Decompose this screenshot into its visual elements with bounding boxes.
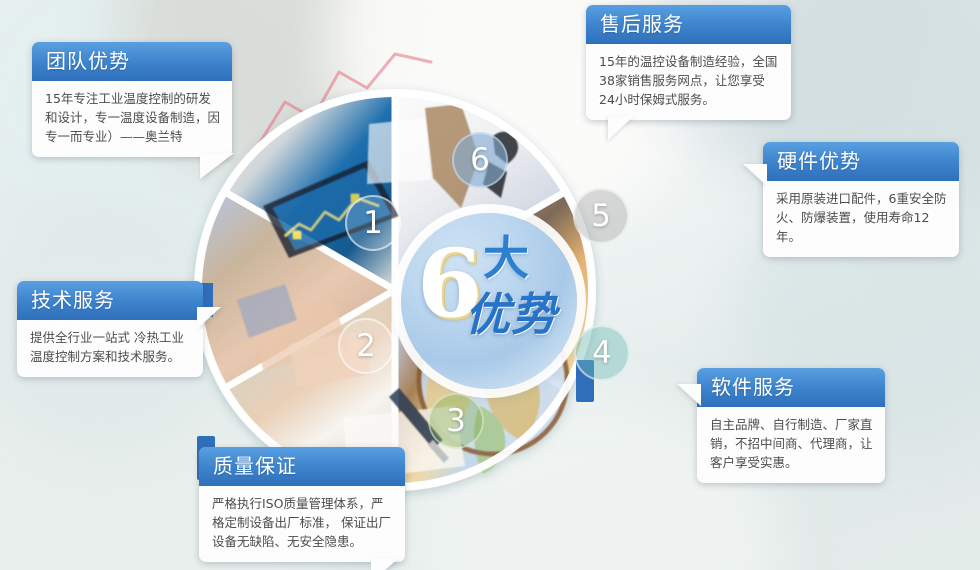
card-title-software: 软件服务 — [697, 368, 885, 407]
center-hub: 6 大 优势 — [401, 213, 577, 389]
card-title-quality: 质量保证 — [199, 447, 405, 486]
card-title-hardware: 硬件优势 — [763, 142, 959, 181]
callout-card-hardware[interactable]: 硬件优势 采用原装进口配件，6重安全防火、防爆装置，使用寿命12年。 — [763, 142, 959, 257]
card-title-after-sales: 售后服务 — [586, 5, 791, 44]
card-body-quality: 严格执行ISO质量管理体系，严格定制设备出厂标准， 保证出厂设备无缺陷、无安全隐… — [199, 486, 405, 562]
card-body-team: 15年专注工业温度控制的研发和设计，专一温度设备制造，因专一而专业）——奥兰特 — [32, 81, 232, 157]
card-body-technical: 提供全行业一站式 冷热工业温度控制方案和技术服务。 — [17, 320, 203, 377]
segment-number-6[interactable]: 6 — [452, 132, 508, 188]
callout-card-quality[interactable]: 质量保证 严格执行ISO质量管理体系，严格定制设备出厂标准， 保证出厂设备无缺陷… — [199, 447, 405, 562]
infographic-canvas: 1 2 3 4 5 6 6 大 优势 团队优势 15年专注工业温度控制的研发和设… — [0, 0, 980, 570]
segment-number-3[interactable]: 3 — [428, 393, 484, 449]
card-body-after-sales: 15年的温控设备制造经验，全国38家销售服务网点，让您享受24小时保姆式服务。 — [586, 44, 791, 120]
center-label: 优势 — [465, 291, 557, 339]
card-tail — [200, 153, 234, 179]
card-body-hardware: 采用原装进口配件，6重安全防火、防爆装置，使用寿命12年。 — [763, 181, 959, 257]
segment-number-4[interactable]: 4 — [574, 325, 630, 381]
card-title-team: 团队优势 — [32, 42, 232, 81]
center-number-suffix: 大 — [483, 235, 529, 281]
card-tail — [608, 116, 634, 140]
card-tail — [197, 307, 221, 329]
card-body-software: 自主品牌、自行制造、厂家直销，不招中间商、代理商，让客户享受实惠。 — [697, 407, 885, 483]
card-tail — [371, 558, 399, 570]
segment-number-2[interactable]: 2 — [338, 318, 394, 374]
callout-card-after-sales[interactable]: 售后服务 15年的温控设备制造经验，全国38家销售服务网点，让您享受24小时保姆… — [586, 5, 791, 120]
callout-card-software[interactable]: 软件服务 自主品牌、自行制造、厂家直销，不招中间商、代理商，让客户享受实惠。 — [697, 368, 885, 483]
card-tail — [743, 164, 767, 186]
callout-card-technical[interactable]: 技术服务 提供全行业一站式 冷热工业温度控制方案和技术服务。 — [17, 281, 203, 377]
center-hub-inner: 6 大 优势 — [401, 213, 577, 389]
segment-number-5[interactable]: 5 — [573, 188, 629, 244]
segment-number-1[interactable]: 1 — [345, 195, 401, 251]
card-tail — [677, 384, 701, 406]
card-title-technical: 技术服务 — [17, 281, 203, 320]
callout-card-team[interactable]: 团队优势 15年专注工业温度控制的研发和设计，专一温度设备制造，因专一而专业）—… — [32, 42, 232, 157]
